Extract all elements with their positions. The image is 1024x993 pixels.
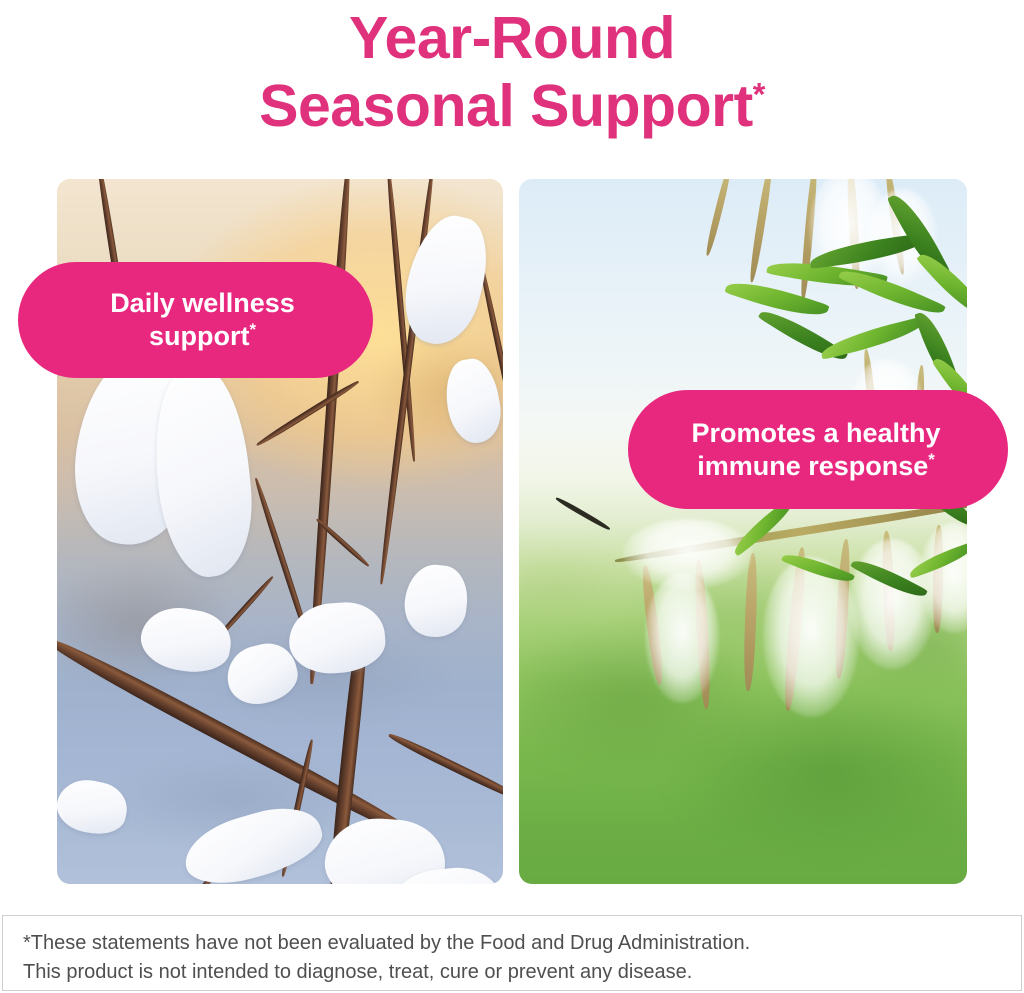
page-title-asterisk: * — [753, 76, 765, 112]
spring-seed-fluff — [645, 573, 719, 703]
page-title-line-2-text: Seasonal Support — [259, 73, 753, 139]
badge-asterisk: * — [249, 320, 256, 339]
spring-panel — [519, 179, 967, 884]
disclaimer-box: *These statements have not been evaluate… — [2, 915, 1022, 991]
badge-line-2: immune response — [697, 451, 928, 481]
badge-line-1: Promotes a healthy — [691, 418, 940, 448]
page-title-line-1: Year-Round — [0, 0, 1024, 72]
page-title-line-2: Seasonal Support* — [0, 72, 1024, 140]
page-title: Year-Round Seasonal Support* — [0, 0, 1024, 140]
badge-daily-wellness-support: Daily wellnesssupport* — [18, 262, 373, 378]
badge-promotes-healthy-immune-response: Promotes a healthyimmune response* — [628, 390, 1008, 509]
badge-promotes-healthy-immune-response-text: Promotes a healthyimmune response* — [691, 417, 940, 483]
disclaimer-line-2: This product is not intended to diagnose… — [23, 958, 983, 987]
badge-daily-wellness-support-text: Daily wellnesssupport* — [110, 287, 295, 353]
disclaimer-line-1: *These statements have not been evaluate… — [23, 929, 983, 958]
disclaimer-text: *These statements have not been evaluate… — [23, 929, 983, 987]
badge-line-1: Daily wellness — [110, 288, 295, 318]
badge-asterisk: * — [928, 450, 935, 469]
badge-line-2: support — [149, 321, 250, 351]
